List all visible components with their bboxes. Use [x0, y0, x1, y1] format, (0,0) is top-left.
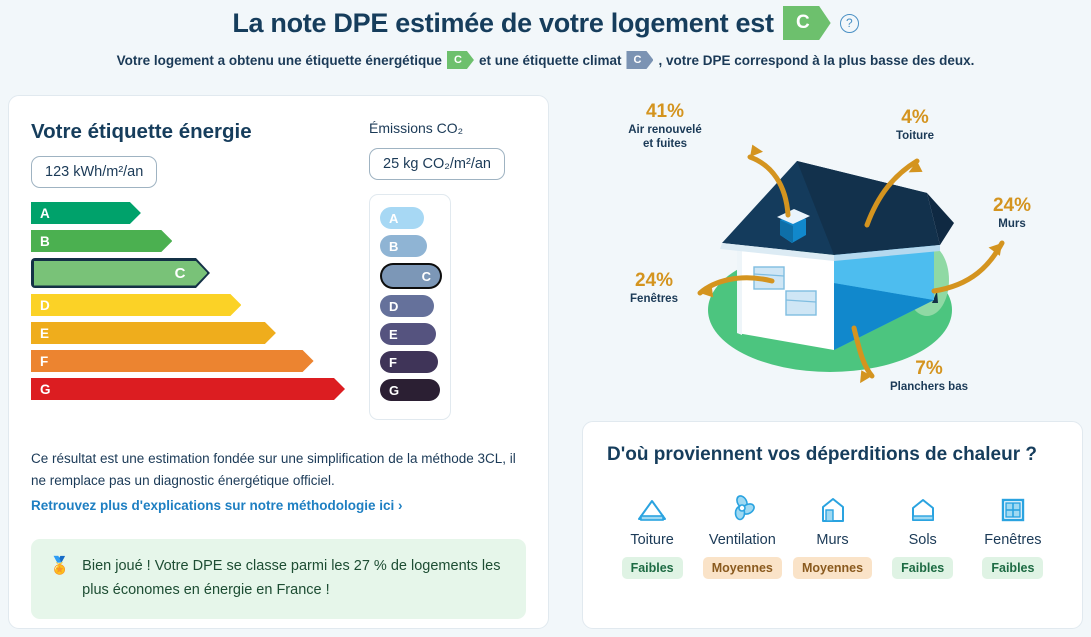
deperdition-badge: Moyennes — [793, 557, 872, 579]
loss-value-roof: 4% — [860, 107, 970, 129]
co2-bar-b: B — [380, 235, 440, 257]
co2-bar-label: C — [382, 265, 440, 287]
energy-section-title: Votre étiquette énergie — [31, 120, 345, 144]
deperdition-label: Toiture — [630, 532, 674, 548]
subtitle-text-1: Votre logement a obtenu une étiquette én… — [117, 53, 442, 68]
loss-value-air: 41% — [600, 101, 730, 123]
deperditions-title: D'où proviennent vos déperditions de cha… — [607, 444, 1058, 466]
deperdition-item-murs[interactable]: MursMoyennes — [787, 492, 877, 579]
energy-bar-active-outline: C — [31, 258, 210, 288]
deperdition-badge: Moyennes — [703, 557, 782, 579]
wall-icon — [819, 492, 847, 524]
energy-bar-c: C — [31, 258, 345, 288]
co2-bar-label: G — [380, 379, 440, 401]
co2-bar-d: D — [380, 295, 440, 317]
loss-label-walls: 24% Murs — [962, 195, 1062, 231]
dpe-grade-badge: C — [783, 6, 831, 40]
heat-loss-summary-card: D'où proviennent vos déperditions de cha… — [582, 421, 1083, 629]
co2-bar-e: E — [380, 323, 440, 345]
dpe-result-page: La note DPE estimée de votre logement es… — [0, 0, 1091, 637]
deperdition-item-fenêtres[interactable]: FenêtresFaibles — [968, 492, 1058, 579]
energy-bar-f: F — [31, 350, 345, 372]
subtitle-energy-badge: C — [447, 51, 474, 69]
energy-bar-d: D — [31, 294, 345, 316]
loss-label-floors: 7% Planchers bas — [869, 358, 989, 394]
deperdition-label: Murs — [816, 532, 848, 548]
co2-section: Émissions CO₂ 25 kg CO₂/m²/an ABCDEFG — [369, 120, 526, 420]
energy-value-pill: 123 kWh/m²/an — [31, 156, 157, 188]
loss-value-walls: 24% — [962, 195, 1062, 217]
co2-bar-label: D — [380, 295, 434, 317]
roof-icon — [637, 492, 667, 524]
disclaimer-block: Ce résultat est une estimation fondée su… — [31, 448, 526, 517]
co2-bar-a: A — [380, 207, 440, 229]
deperdition-item-toiture[interactable]: ToitureFaibles — [607, 492, 697, 579]
subtitle-climate-badge: C — [626, 51, 653, 69]
energy-bar-label: B — [31, 230, 172, 252]
co2-bar-c: C — [380, 263, 442, 289]
loss-label-windows: 24% Fenêtres — [604, 270, 704, 306]
loss-label-roof: 4% Toiture — [860, 107, 970, 143]
loss-label-air: 41% Air renouvelé et fuites — [600, 101, 730, 152]
deperdition-label: Ventilation — [709, 532, 776, 548]
energy-bar-a: A — [31, 202, 345, 224]
subtitle-text-3: , votre DPE correspond à la plus basse d… — [658, 53, 974, 68]
loss-value-windows: 24% — [604, 270, 704, 292]
co2-bar-f: F — [380, 351, 440, 373]
deperditions-grid: ToitureFaiblesVentilationMoyennesMursMoy… — [607, 492, 1058, 579]
energy-label-card: Votre étiquette énergie 123 kWh/m²/an AB… — [8, 95, 549, 629]
loss-name-windows: Fenêtres — [604, 292, 704, 306]
loss-value-floors: 7% — [869, 358, 989, 380]
co2-bar-label: A — [380, 207, 424, 229]
co2-section-title: Émissions CO₂ — [369, 120, 526, 136]
energy-bar-label: F — [31, 350, 314, 372]
co2-bar-label: F — [380, 351, 438, 373]
co2-bar-label: B — [380, 235, 427, 257]
energy-label-section: Votre étiquette énergie 123 kWh/m²/an AB… — [31, 120, 345, 420]
fan-icon — [727, 492, 757, 524]
congratulation-note: 🏅 Bien joué ! Votre DPE se classe parmi … — [31, 539, 526, 619]
congratulation-note-text: Bien joué ! Votre DPE se classe parmi le… — [82, 555, 508, 603]
house-heat-loss-diagram: 41% Air renouvelé et fuites 4% Toiture 2… — [582, 95, 1083, 415]
medal-icon: 🏅 — [49, 555, 70, 577]
co2-bar-label: E — [380, 323, 436, 345]
loss-name-roof: Toiture — [860, 129, 970, 143]
co2-bar-g: G — [380, 379, 440, 401]
window-icon — [999, 492, 1027, 524]
energy-bar-label: A — [31, 202, 141, 224]
methodology-link[interactable]: Retrouvez plus d'explications sur notre … — [31, 495, 526, 517]
loss-name-air: Air renouvelé et fuites — [600, 123, 730, 152]
loss-name-walls: Murs — [962, 217, 1062, 231]
co2-scale: ABCDEFG — [369, 194, 451, 420]
page-subtitle: Votre logement a obtenu une étiquette én… — [0, 51, 1091, 69]
deperdition-label: Sols — [909, 532, 937, 548]
energy-bar-label: D — [31, 294, 241, 316]
energy-bar-label: E — [31, 322, 276, 344]
help-icon[interactable]: ? — [840, 14, 859, 33]
deperdition-badge: Faibles — [622, 557, 683, 579]
energy-bar-b: B — [31, 230, 345, 252]
deperdition-label: Fenêtres — [984, 532, 1041, 548]
page-title-text: La note DPE estimée de votre logement es… — [232, 8, 773, 39]
energy-scale: ABCDEFG — [31, 202, 345, 400]
co2-value-pill: 25 kg CO₂/m²/an — [369, 148, 505, 180]
deperdition-badge: Faibles — [892, 557, 953, 579]
loss-name-floors: Planchers bas — [869, 380, 989, 394]
energy-bar-label: G — [31, 378, 345, 400]
deperdition-item-ventilation[interactable]: VentilationMoyennes — [697, 492, 787, 579]
page-header: La note DPE estimée de votre logement es… — [0, 0, 1091, 69]
floor-icon — [909, 492, 937, 524]
disclaimer-text: Ce résultat est une estimation fondée su… — [31, 451, 516, 488]
energy-bar-g: G — [31, 378, 345, 400]
deperdition-item-sols[interactable]: SolsFaibles — [878, 492, 968, 579]
energy-bar-label: C — [34, 261, 208, 286]
deperdition-badge: Faibles — [982, 557, 1043, 579]
subtitle-text-2: et une étiquette climat — [479, 53, 622, 68]
energy-bar-e: E — [31, 322, 345, 344]
page-title: La note DPE estimée de votre logement es… — [0, 6, 1091, 40]
